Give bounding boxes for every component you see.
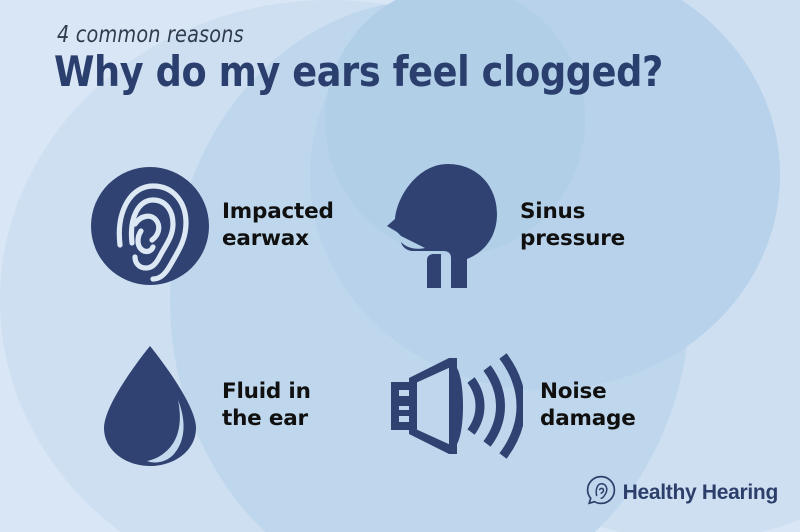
speaker-icon [380, 352, 530, 460]
page-title: Why do my ears feel clogged? [54, 50, 663, 95]
reason-label-sinus-pressure: Sinus pressure [520, 199, 625, 252]
reason-label-fluid-in-ear: Fluid in the ear [222, 379, 311, 432]
ear-icon [84, 167, 216, 285]
brand-name: Healthy Hearing [623, 481, 778, 505]
reason-item-impacted-earwax: Impacted earwax [0, 136, 360, 316]
eyebrow-text: 4 common reasons [57, 22, 638, 48]
header-block: 4 common reasons Why do my ears feel clo… [54, 22, 682, 95]
reason-item-noise-damage: Noise damage [360, 316, 800, 496]
droplet-icon [84, 344, 216, 468]
brand-logo[interactable]: Healthy Hearing [586, 475, 778, 510]
reasons-grid: Impacted earwax Sinus pressure [0, 136, 800, 496]
reasons-row-bottom: Fluid in the ear [0, 316, 800, 496]
ear-in-circle-icon [586, 475, 616, 510]
head-icon [380, 162, 510, 290]
reason-label-impacted-earwax: Impacted earwax [222, 199, 334, 252]
reason-label-noise-damage: Noise damage [540, 379, 636, 432]
reason-item-fluid-in-ear: Fluid in the ear [0, 316, 360, 496]
infographic-canvas: 4 common reasons Why do my ears feel clo… [0, 0, 800, 532]
reason-item-sinus-pressure: Sinus pressure [360, 136, 800, 316]
reasons-row-top: Impacted earwax Sinus pressure [0, 136, 800, 316]
